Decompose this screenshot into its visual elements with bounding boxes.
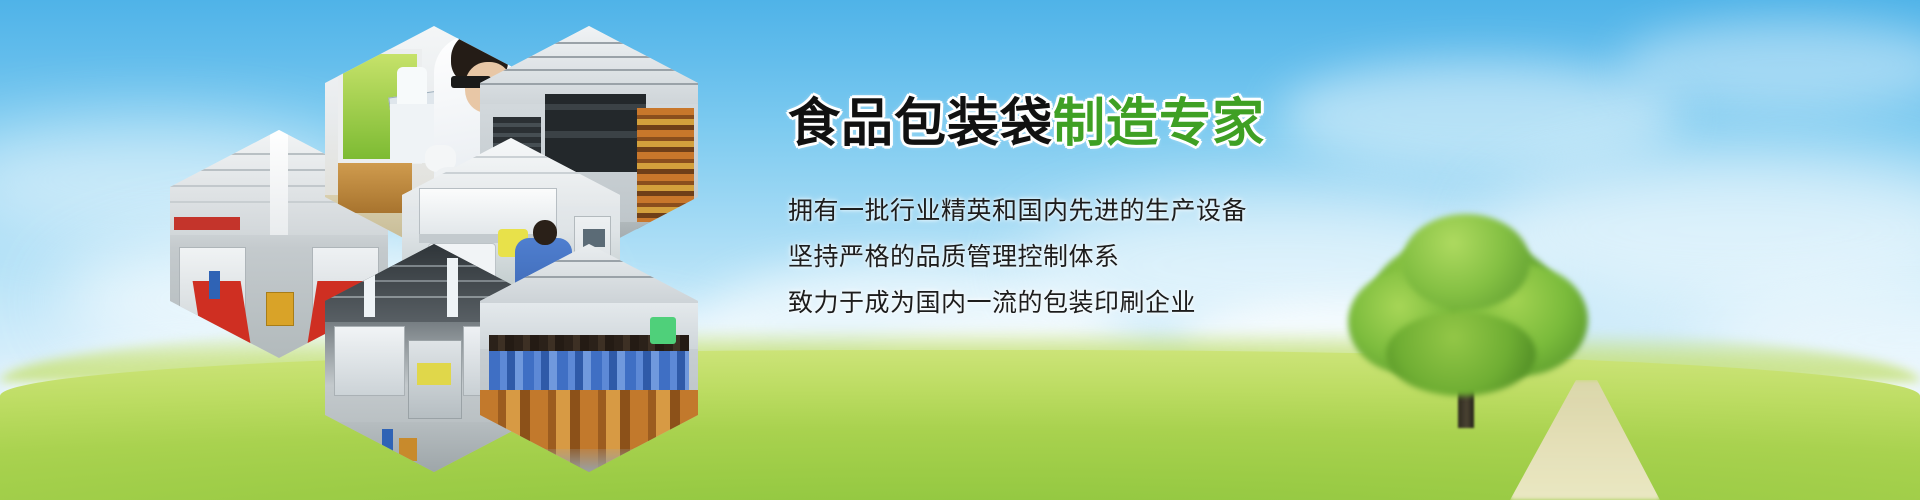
promo-banner: 食品包装袋制造专家 拥有一批行业精英和国内先进的生产设备 坚持严格的品质管理控制… [0,0,1920,500]
subtitle-line: 拥有一批行业精英和国内先进的生产设备 [788,188,1548,234]
banner-text-block: 食品包装袋制造专家 拥有一批行业精英和国内先进的生产设备 坚持严格的品质管理控制… [788,96,1548,326]
headline: 食品包装袋制造专家 [788,96,1548,152]
subtitle-list: 拥有一批行业精英和国内先进的生产设备 坚持严格的品质管理控制体系 致力于成为国内… [788,188,1548,326]
subtitle-line: 坚持严格的品质管理控制体系 [788,234,1548,280]
subtitle-line: 致力于成为国内一流的包装印刷企业 [788,280,1548,326]
hexagon-photo-cluster [170,18,810,358]
headline-black-text: 食品包装袋 [788,95,1053,153]
headline-green-text: 制造专家 [1053,95,1265,153]
